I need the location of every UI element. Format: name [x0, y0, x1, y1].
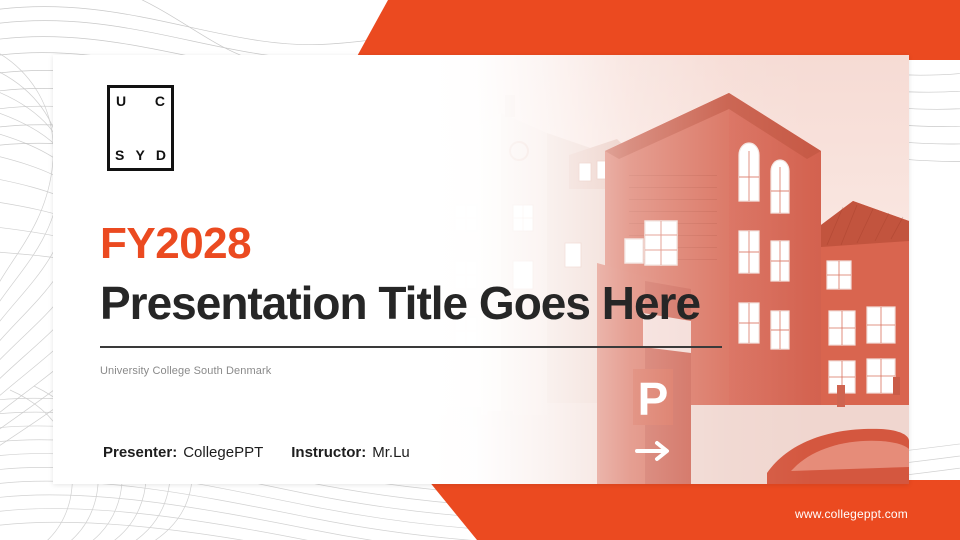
fiscal-year-eyebrow: FY2028	[100, 220, 722, 268]
title-text-block: FY2028 Presentation Title Goes Here Univ…	[100, 220, 722, 378]
title-slide: P U C	[0, 0, 960, 540]
logo-row-bottom: S Y D	[110, 148, 171, 162]
uc-syd-logo: U C S Y D	[107, 85, 174, 171]
logo-row-top: U C	[110, 94, 171, 108]
logo-letter-c: C	[155, 94, 165, 108]
slide-card: P U C	[53, 55, 909, 484]
logo-letter-d: D	[156, 148, 166, 162]
credit-instructor: Instructor: Mr.Lu	[291, 444, 410, 462]
title-divider	[100, 346, 722, 348]
page-title: Presentation Title Goes Here	[100, 276, 722, 330]
instructor-label: Instructor:	[291, 444, 366, 462]
svg-text:P: P	[638, 373, 669, 425]
logo-letter-y: Y	[135, 148, 144, 162]
credits-row: Presenter: CollegePPT Instructor: Mr.Lu	[103, 444, 410, 462]
accent-shape-top-right	[0, 0, 960, 60]
institution-subtitle: University College South Denmark	[100, 364, 722, 378]
footer-url: www.collegeppt.com	[795, 507, 908, 522]
presenter-label: Presenter:	[103, 444, 177, 462]
instructor-value: Mr.Lu	[372, 444, 410, 462]
logo-letter-u: U	[116, 94, 126, 108]
credit-presenter: Presenter: CollegePPT	[103, 444, 263, 462]
logo-letter-s: S	[115, 148, 124, 162]
presenter-value: CollegePPT	[183, 444, 263, 462]
